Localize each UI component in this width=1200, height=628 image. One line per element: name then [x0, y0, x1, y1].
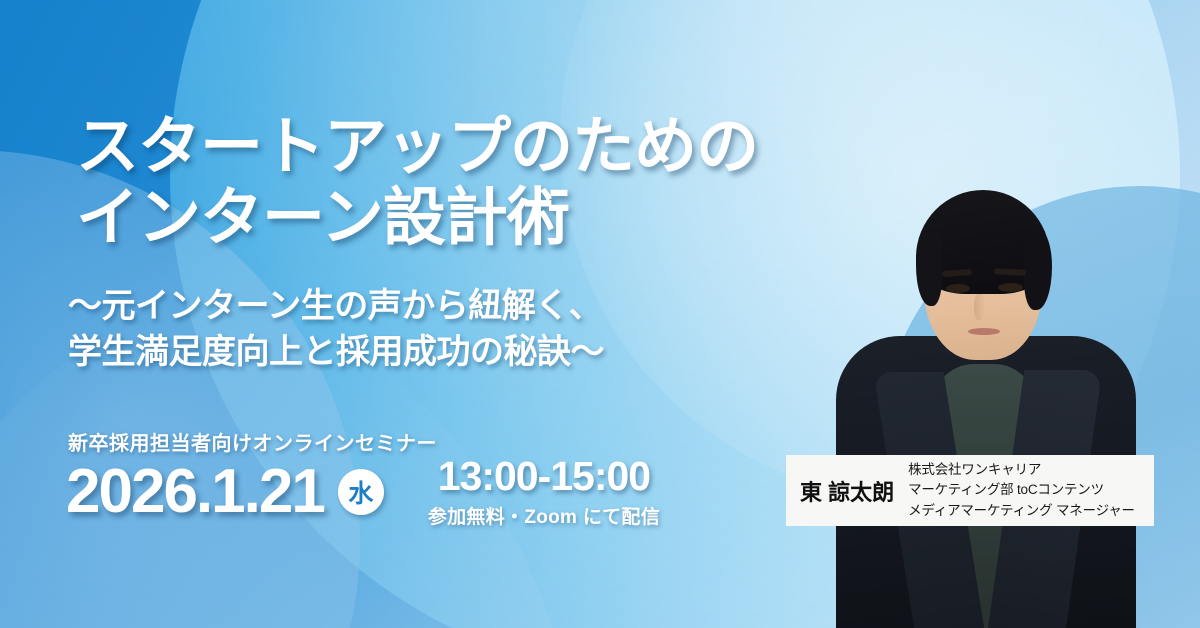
- time-block: 13:00-15:00 参加無料・Zoom にて配信: [428, 455, 660, 529]
- banner-content: スタートアップのための インターン設計術 〜元インターン生の声から紐解く、 学生…: [0, 0, 1200, 628]
- speaker-title: メディアマーケティング マネージャー: [908, 501, 1135, 521]
- event-time: 13:00-15:00: [438, 455, 650, 498]
- subheadline-line-1: 〜元インターン生の声から紐解く、: [68, 287, 602, 325]
- headline-line-2: インターン設計術: [76, 183, 758, 254]
- subheadline-line-2: 学生満足度向上と採用成功の秘訣〜: [68, 329, 604, 375]
- speaker-name: 東 諒太朗: [800, 475, 894, 507]
- speaker-affiliation: 株式会社ワンキャリア マーケティング部 toCコンテンツ メディアマーケティング…: [908, 460, 1135, 521]
- webinar-banner: スタートアップのための インターン設計術 〜元インターン生の声から紐解く、 学生…: [0, 0, 1200, 628]
- event-date: 2026.1.21: [66, 461, 324, 523]
- speaker-department: マーケティング部 toCコンテンツ: [908, 480, 1135, 500]
- event-note: 参加無料・Zoom にて配信: [428, 502, 660, 529]
- day-of-week-badge: 水: [338, 469, 384, 515]
- headline-line-1: スタートアップのための: [76, 112, 758, 182]
- eyebrow-label: 新卒採用担当者向けオンラインセミナー: [68, 427, 437, 456]
- subheadline: 〜元インターン生の声から紐解く、 学生満足度向上と採用成功の秘訣〜: [68, 283, 604, 375]
- speaker-card: 東 諒太朗 株式会社ワンキャリア マーケティング部 toCコンテンツ メディアマ…: [786, 455, 1154, 526]
- speaker-company: 株式会社ワンキャリア: [908, 460, 1135, 480]
- headline: スタートアップのための インターン設計術: [76, 112, 758, 254]
- schedule-row: 2026.1.21 水 13:00-15:00 参加無料・Zoom にて配信: [66, 455, 660, 529]
